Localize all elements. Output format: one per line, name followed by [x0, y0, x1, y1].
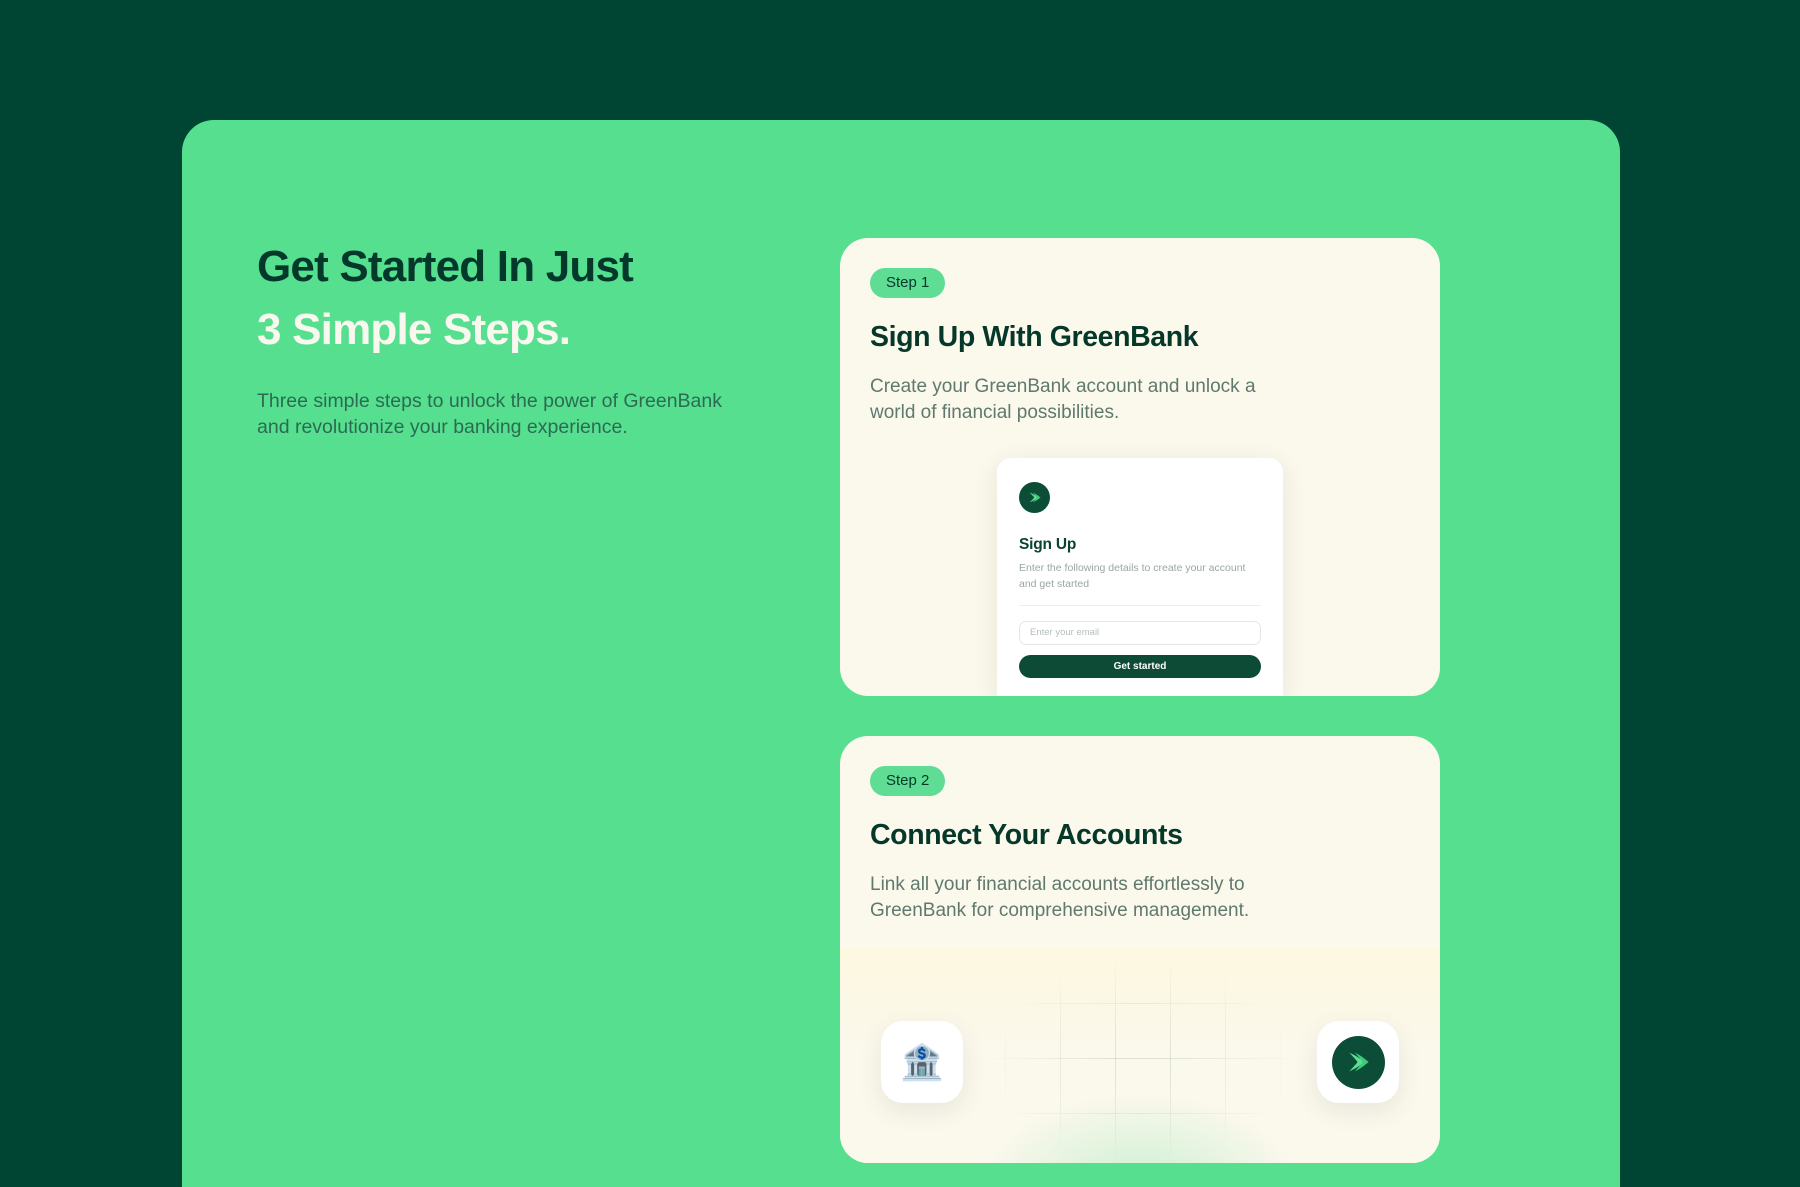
connect-accounts-illustration: 🏦 — [840, 948, 1440, 1163]
get-started-button[interactable]: Get started — [1019, 655, 1261, 678]
signup-divider — [1019, 605, 1261, 606]
greenbank-logo-icon — [1332, 1036, 1385, 1089]
steps-list: Step 1 Sign Up With GreenBank Create you… — [840, 238, 1440, 1163]
signup-card: Sign Up Enter the following details to c… — [997, 458, 1283, 695]
email-field[interactable]: Enter your email — [1019, 621, 1261, 645]
page-title-line-2: 3 Simple Steps. — [257, 298, 857, 361]
step-title-1: Sign Up With GreenBank — [870, 321, 1410, 354]
page-subtitle: Three simple steps to unlock the power o… — [257, 388, 757, 441]
step-description-2: Link all your financial accounts effortl… — [870, 872, 1290, 924]
hero-text-block: Get Started In Just 3 Simple Steps. Thre… — [257, 235, 857, 441]
greenbank-tile[interactable] — [1317, 1021, 1399, 1103]
hero-panel: Get Started In Just 3 Simple Steps. Thre… — [182, 120, 1620, 1187]
page-title-line-1: Get Started In Just — [257, 235, 857, 298]
email-field-placeholder: Enter your email — [1030, 627, 1099, 638]
step-title-2: Connect Your Accounts — [870, 819, 1410, 852]
signup-title: Sign Up — [1019, 536, 1261, 554]
step-card-2[interactable]: Step 2 Connect Your Accounts Link all yo… — [840, 736, 1440, 1163]
signup-subtitle: Enter the following details to create yo… — [1019, 561, 1261, 591]
bank-tile[interactable]: 🏦 — [881, 1021, 963, 1103]
bank-icon: 🏦 — [900, 1045, 944, 1080]
step-card-1[interactable]: Step 1 Sign Up With GreenBank Create you… — [840, 238, 1440, 696]
step-badge-2: Step 2 — [870, 766, 945, 796]
step-description-1: Create your GreenBank account and unlock… — [870, 374, 1290, 426]
signup-mockup: Sign Up Enter the following details to c… — [870, 458, 1410, 695]
step-badge-1: Step 1 — [870, 268, 945, 298]
greenbank-logo-icon — [1019, 482, 1050, 513]
